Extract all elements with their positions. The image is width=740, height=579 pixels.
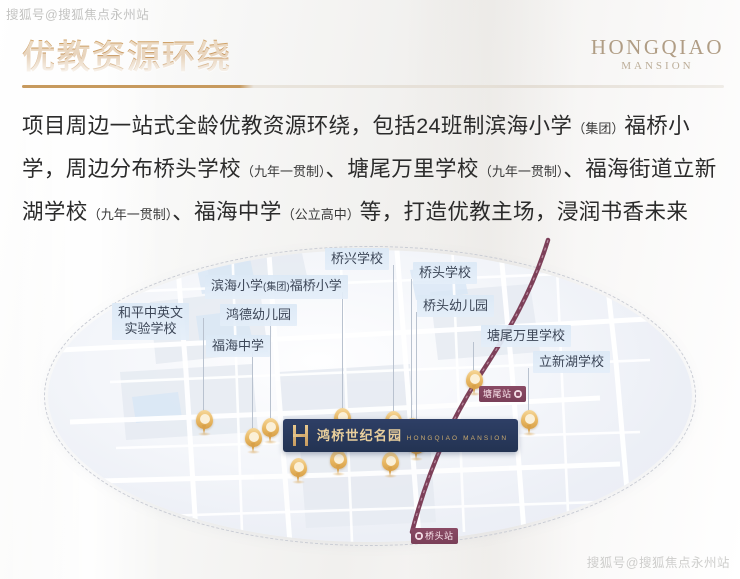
metro-station-tangwei-label: 塘尾站: [483, 387, 512, 400]
map-pin-south-1[interactable]: [290, 458, 307, 483]
map-pin-fuhai[interactable]: [245, 428, 262, 453]
map-label-qiaotou-youeryuan[interactable]: 桥头幼儿园: [417, 295, 494, 317]
pin-shadow: [198, 432, 211, 436]
map-pin-heping[interactable]: [196, 410, 213, 435]
title-divider: [22, 85, 724, 88]
metro-station-qiaotou-label: 桥头站: [425, 529, 454, 542]
map-label-qiaotou-xuexiao[interactable]: 桥头学校: [413, 262, 477, 284]
metro-icon: [415, 532, 423, 540]
copy-note-3: （九年一贯制）: [479, 164, 564, 179]
map-label-binhai-main2: 福桥小学: [290, 278, 342, 293]
map-label-binhai[interactable]: 滨海小学(集团)福桥小学: [205, 275, 348, 299]
map-label-fuhai-zhongxue[interactable]: 福海中学: [206, 335, 270, 357]
map-pin-hongde[interactable]: [262, 418, 279, 443]
project-marker-text: 鸿桥世纪名园 HONGQIAO MANSION: [317, 427, 508, 445]
map-label-heping-line1: 和平中英文: [118, 305, 183, 321]
label-stem-qiaotou-xx: [411, 279, 412, 420]
project-marker-badge[interactable]: 鸿桥世纪名园 HONGQIAO MANSION: [283, 419, 518, 452]
label-stem-heping: [203, 318, 204, 412]
map-label-heping-line2: 实验学校: [118, 321, 183, 337]
label-stem-hongde: [270, 321, 271, 420]
label-stem-fuhai: [252, 352, 253, 430]
pin-shadow: [264, 440, 277, 444]
copy-note-5: （公立高中）: [282, 207, 360, 222]
map-label-binhai-main1: 滨海小学: [211, 278, 263, 293]
body-paragraph: 项目周边一站式全龄优教资源环绕，包括24班制滨海小学（集团）福桥小学，周边分布桥…: [22, 106, 722, 235]
project-name-en: HONGQIAO MANSION: [407, 435, 509, 442]
watermark-top: 搜狐号@搜狐焦点永州站: [6, 4, 149, 23]
pin-shadow: [523, 432, 536, 436]
watermark-bottom: 搜狐号@搜狐焦点永州站: [587, 552, 730, 571]
hongqiao-logo-icon: [291, 425, 310, 446]
copy-part-1: 项目周边一站式全龄优教资源环绕，包括24班制滨海小学: [22, 114, 572, 138]
map-label-heping[interactable]: 和平中英文 实验学校: [112, 303, 189, 340]
pin-shadow: [332, 472, 345, 476]
copy-part-3: 、塘尾万里学校: [326, 157, 479, 181]
metro-line-svg: [0, 232, 740, 579]
copy-note-1: （集团）: [572, 121, 624, 136]
map-label-tangwei-wanli[interactable]: 塘尾万里学校: [481, 325, 571, 347]
pin-shadow: [292, 480, 305, 484]
brand-subtitle-en: MANSION: [591, 60, 724, 72]
label-stem-lixinhu: [528, 368, 529, 412]
copy-part-6: 等，打造优教主场，浸润书香未来: [360, 200, 689, 224]
map-label-lixinhu[interactable]: 立新湖学校: [533, 351, 610, 373]
map-label-binhai-note: (集团): [263, 282, 290, 293]
pin-shadow: [247, 450, 260, 454]
label-stem-tangwei: [473, 342, 474, 372]
pin-shadow: [410, 457, 423, 461]
page-title: 优教资源环绕: [22, 30, 232, 78]
brand-logo: HONGQIAO MANSION: [591, 36, 724, 72]
copy-part-5: 、福海中学: [172, 200, 282, 224]
metro-station-qiaotou[interactable]: 桥头站: [411, 528, 458, 544]
label-stem-qiaoxing: [393, 265, 394, 413]
map-pin-south-2[interactable]: [330, 450, 347, 475]
map-pin-south-3[interactable]: [382, 452, 399, 477]
location-map: [0, 232, 740, 579]
map-label-qiaoxing[interactable]: 桥兴学校: [325, 248, 389, 270]
pin-shadow: [384, 474, 397, 478]
page-root: 优教资源环绕 HONGQIAO MANSION 项目周边一站式全龄优教资源环绕，…: [0, 0, 740, 579]
copy-note-4: （九年一贯制）: [88, 207, 173, 222]
map-label-hongde[interactable]: 鸿德幼儿园: [220, 304, 297, 326]
copy-note-2: （九年一贯制）: [241, 164, 326, 179]
project-name-cn: 鸿桥世纪名园: [317, 428, 402, 443]
brand-name-en: HONGQIAO: [591, 36, 724, 58]
metro-icon: [514, 390, 522, 398]
metro-station-tangwei[interactable]: 塘尾站: [479, 386, 526, 402]
map-pin-lixinhu[interactable]: [521, 410, 538, 435]
